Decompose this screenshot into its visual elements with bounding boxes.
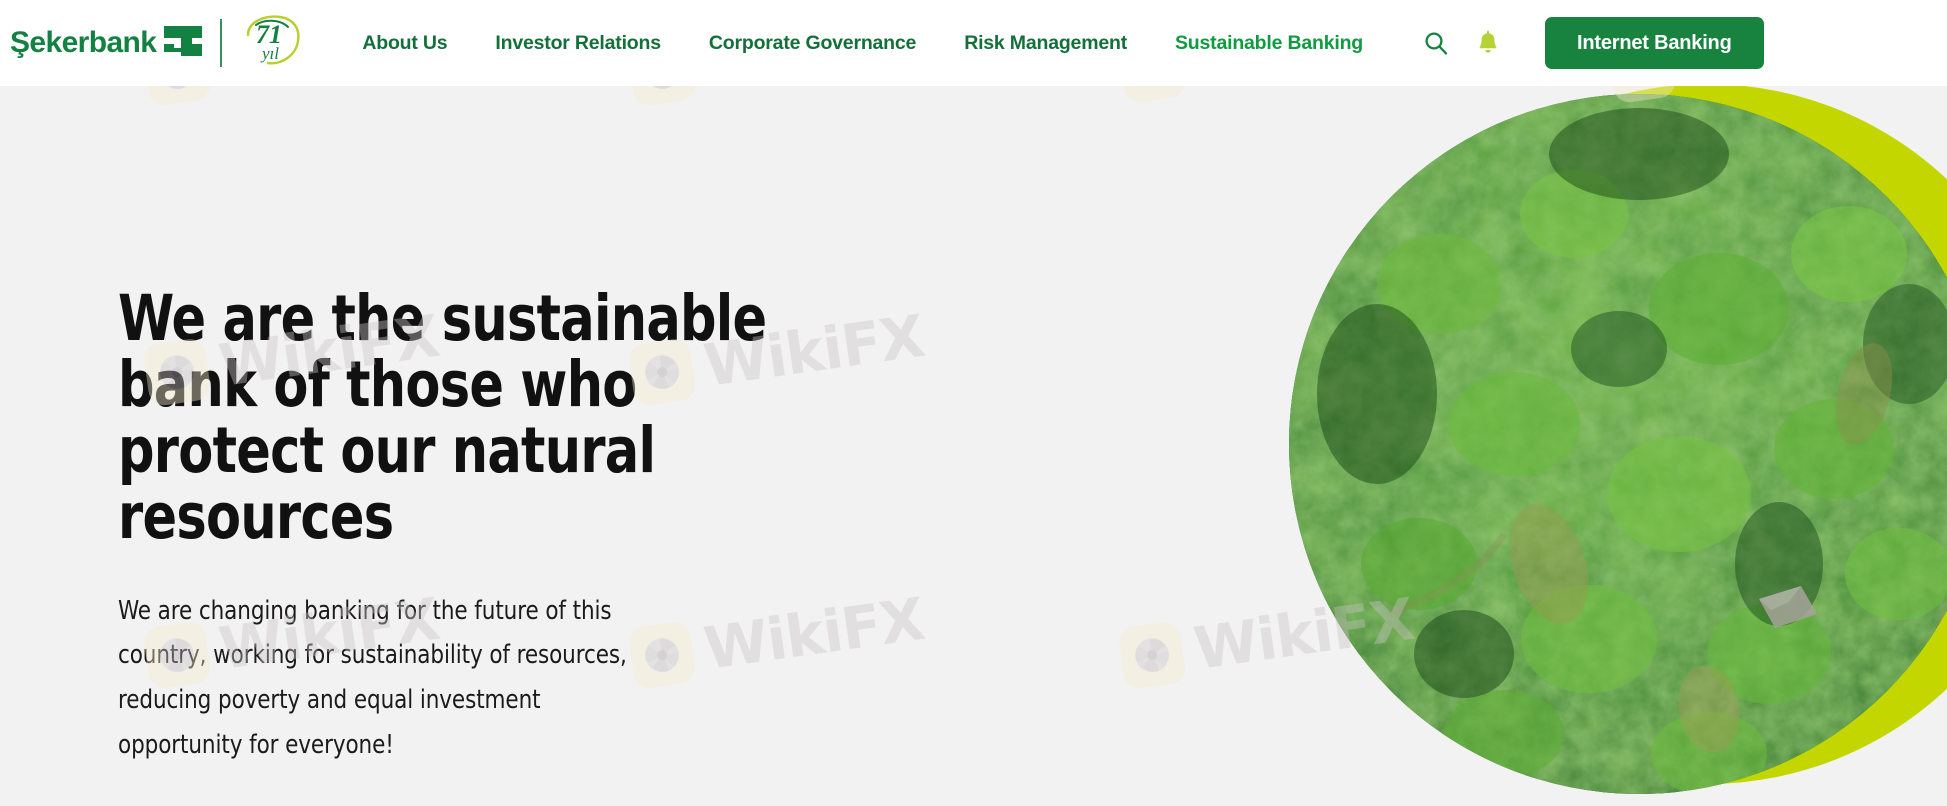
brand-divider bbox=[220, 19, 222, 67]
hero-copy: We are the sustainable bank of those who… bbox=[118, 286, 858, 767]
site-header: Şekerbank 71 yıl About Us bbox=[0, 0, 1947, 86]
hero-title: We are the sustainable bank of those who… bbox=[118, 286, 829, 551]
forest-photo-circle bbox=[1289, 94, 1947, 794]
hero-subtitle: We are changing banking for the future o… bbox=[118, 589, 670, 768]
nav-item-risk-management[interactable]: Risk Management bbox=[964, 32, 1127, 55]
main-navigation: About Us Investor Relations Corporate Go… bbox=[362, 32, 1363, 55]
nav-item-sustainable-banking[interactable]: Sustainable Banking bbox=[1175, 32, 1363, 55]
anniversary-badge-71-yil: 71 yıl bbox=[240, 13, 304, 74]
page-root: Şekerbank 71 yıl About Us bbox=[0, 0, 1947, 806]
brand-wordmark: Şekerbank bbox=[10, 24, 204, 63]
svg-text:yıl: yıl bbox=[260, 44, 279, 63]
search-icon[interactable] bbox=[1419, 26, 1453, 60]
hero-section: We are the sustainable bank of those who… bbox=[0, 86, 1947, 806]
nav-item-about-us[interactable]: About Us bbox=[362, 32, 447, 55]
nav-item-investor-relations[interactable]: Investor Relations bbox=[495, 32, 660, 55]
sekerbank-s-swirl-icon bbox=[162, 24, 204, 63]
internet-banking-button[interactable]: Internet Banking bbox=[1545, 17, 1764, 69]
brand-name: Şekerbank bbox=[10, 28, 156, 58]
bell-icon[interactable] bbox=[1471, 26, 1505, 60]
header-actions bbox=[1419, 26, 1505, 60]
hero-visual bbox=[1237, 86, 1947, 806]
brand-logo[interactable]: Şekerbank 71 yıl bbox=[10, 15, 304, 71]
nav-item-corporate-governance[interactable]: Corporate Governance bbox=[709, 32, 916, 55]
